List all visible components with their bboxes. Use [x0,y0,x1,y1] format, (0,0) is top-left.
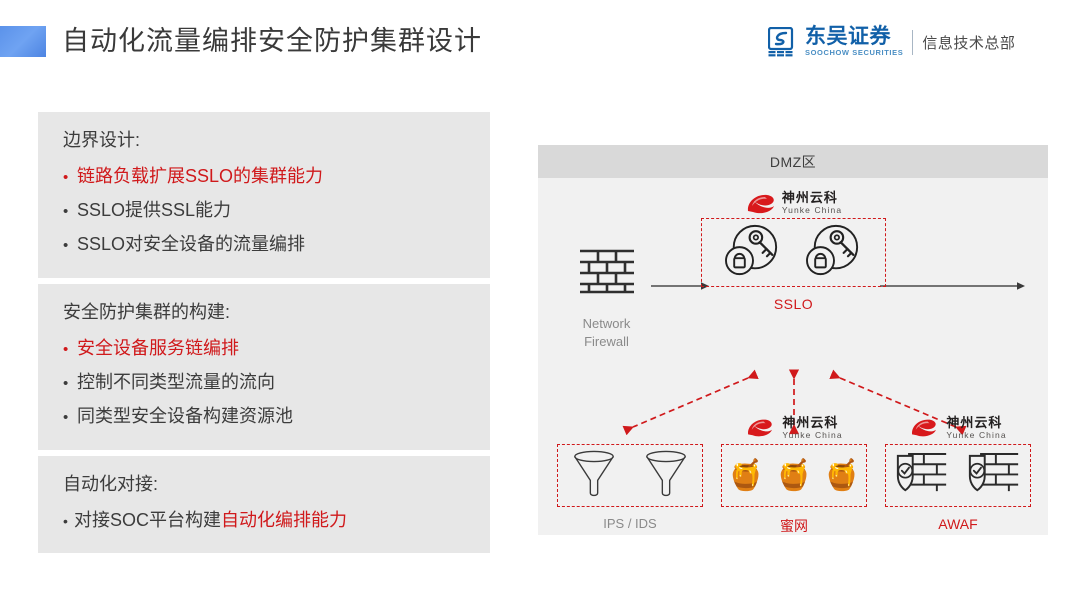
awaf-caption: AWAF [876,516,1040,532]
vendor-name-cn: 神州云科 [782,191,842,204]
bullet-marker: • [63,368,77,400]
bullet-label: 安全设备服务链编排 [77,332,239,364]
sslo-pool-box [701,218,886,287]
page-title: 自动化流量编排安全防护集群设计 [62,19,482,58]
list-item: • 对接SOC平台构建自动化编排能力 [38,504,490,537]
honeynet-caption: 蜜网 [712,516,876,536]
yunke-china-swoosh-icon [745,416,777,440]
sslo-caption: SSLO [701,296,886,312]
list-item: • 安全设备服务链编排 [38,332,490,366]
block-heading: 自动化对接: [38,470,490,498]
security-pool-honeynet: 神州云科 Yunke China 🍯 🍯 🍯 蜜网 [712,414,876,536]
bullet-label: 对接SOC平台构建自动化编排能力 [74,504,347,536]
honey-pot-icon: 🍯 [775,461,812,491]
awaf-pool-box [885,444,1031,507]
bullet-marker: • [63,334,77,366]
block-heading: 边界设计: [38,126,490,154]
bullet-label: 控制不同类型流量的流向 [77,366,275,398]
egress-arrow [880,278,1025,288]
bullet-label: SSLO对安全设备的流量编排 [77,228,305,260]
brand-name-cn: 东吴证券 [805,26,903,47]
funnel-icon [644,449,688,502]
brand-text: 东吴证券 SOOCHOW SECURITIES [805,26,903,58]
brand-logo: 东吴证券 SOOCHOW SECURITIES 信息技术总部 [768,24,1015,60]
dmz-zone-header: DMZ区 [538,145,1048,178]
bullet-marker: • [63,402,77,434]
ips-ids-caption: IPS / IDS [548,516,712,531]
sslo-group: 神州云科 Yunke China [701,188,886,312]
text-block-cluster-build: 安全防护集群的构建: • 安全设备服务链编排 • 控制不同类型流量的流向 • 同… [38,284,490,450]
vendor-logo-sslo: 神州云科 Yunke China [701,188,886,218]
list-item: • SSLO提供SSL能力 [38,194,490,228]
bullet-label: 链路负载扩展SSLO的集群能力 [77,160,323,192]
text-block-automation: 自动化对接: • 对接SOC平台构建自动化编排能力 [38,456,490,553]
slide-header: 自动化流量编排安全防护集群设计 东吴证券 SOOCHOW SECURITIES … [0,0,1080,92]
security-pool-ips-ids: IPS / IDS [548,414,712,536]
bullet-label: SSLO提供SSL能力 [77,194,231,226]
security-pool-row: IPS / IDS 神州云科 Yunke China [548,414,1040,536]
vendor-name-en: Yunke China [946,431,1006,440]
bullet-marker: • [63,230,77,262]
shield-brick-wall-icon [968,450,1020,502]
yunke-china-swoosh-icon [745,191,777,215]
ips-ids-pool-box [557,444,703,507]
vendor-name: 神州云科 Yunke China [782,191,842,215]
list-item: • 控制不同类型流量的流向 [38,366,490,400]
block-heading: 安全防护集群的构建: [38,298,490,326]
bullet-label-highlight: 自动化编排能力 [221,510,347,530]
soochow-securities-logo-icon [768,27,798,57]
dmz-zone-label: DMZ区 [770,152,816,172]
firewall-caption-line1: Network [554,315,659,333]
yunke-china-swoosh-icon [909,416,941,440]
key-lock-circle-icon [805,223,863,282]
logo-spacer [548,414,712,444]
vendor-logo-awaf: 神州云科 Yunke China [876,414,1040,442]
firewall-caption-line2: Firewall [554,333,659,351]
vendor-name-cn: 神州云科 [782,416,842,429]
key-lock-circle-icon [724,223,782,282]
funnel-icon [572,449,616,502]
vendor-logo-honeynet: 神州云科 Yunke China [712,414,876,442]
brand-divider [912,30,913,55]
title-accent-bar [0,26,46,57]
vendor-name: 神州云科 Yunke China [946,416,1006,440]
bullet-label: 同类型安全设备构建资源池 [77,400,293,432]
architecture-diagram: DMZ区 [538,145,1048,535]
brick-wall-icon [554,245,659,297]
bullet-marker: • [63,162,77,194]
honeynet-pool-box: 🍯 🍯 🍯 [721,444,867,507]
security-pool-awaf: 神州云科 Yunke China [876,414,1040,536]
bullet-marker: • [63,196,77,228]
vendor-name-en: Yunke China [782,206,842,215]
brand-name-en: SOOCHOW SECURITIES [805,48,903,58]
bullet-panel: 边界设计: • 链路负载扩展SSLO的集群能力 • SSLO提供SSL能力 • … [38,112,490,559]
list-item: • SSLO对安全设备的流量编排 [38,228,490,262]
bullet-marker: • [63,505,74,537]
bullet-label-plain: 对接SOC平台构建 [74,510,221,530]
shield-brick-wall-icon [896,450,948,502]
firewall-caption: Network Firewall [554,315,659,351]
list-item: • 链路负载扩展SSLO的集群能力 [38,160,490,194]
honey-pot-icon: 🍯 [727,461,764,491]
dmz-zone-body: Network Firewall [538,178,1048,535]
vendor-name-cn: 神州云科 [946,416,1006,429]
list-item: • 同类型安全设备构建资源池 [38,400,490,434]
network-firewall-node: Network Firewall [554,245,659,351]
brand-department: 信息技术总部 [922,32,1015,53]
text-block-boundary-design: 边界设计: • 链路负载扩展SSLO的集群能力 • SSLO提供SSL能力 • … [38,112,490,278]
vendor-name-en: Yunke China [782,431,842,440]
honey-pot-icon: 🍯 [823,461,860,491]
vendor-name: 神州云科 Yunke China [782,416,842,440]
